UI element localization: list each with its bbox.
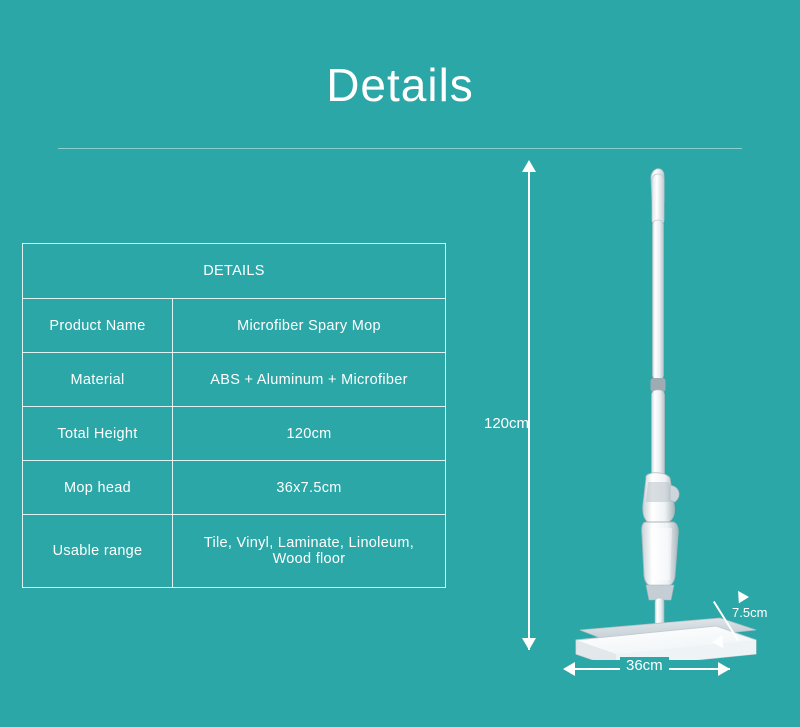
footer-strip (0, 709, 800, 727)
width-arrow-right-icon (718, 662, 730, 676)
table-row: Product Name Microfiber Spary Mop (23, 299, 446, 353)
width-arrow-left-icon (563, 662, 575, 676)
table-row: Usable range Tile, Vinyl, Laminate, Lino… (23, 515, 446, 588)
table-body: DETAILS Product Name Microfiber Spary Mo… (23, 244, 446, 588)
table-header-row: DETAILS (23, 244, 446, 299)
specifications-table: DETAILS Product Name Microfiber Spary Mo… (22, 243, 446, 588)
row-value-material: ABS + Aluminum + Microfiber (173, 353, 446, 407)
row-label-material: Material (23, 353, 173, 407)
row-label-mop-head: Mop head (23, 461, 173, 515)
thickness-dimension-label: 7.5cm (732, 605, 767, 620)
height-dimension-label: 120cm (484, 415, 529, 432)
row-value-usable-range: Tile, Vinyl, Laminate, Linoleum, Wood fl… (173, 515, 446, 588)
table-row: Total Height 120cm (23, 407, 446, 461)
height-dimension-line (528, 172, 530, 650)
details-page: Details DETAILS Product Name Microfiber … (0, 0, 800, 727)
table-header-cell: DETAILS (23, 244, 446, 299)
title-divider (58, 148, 742, 149)
usable-range-line-2: Wood floor (179, 551, 439, 567)
page-title: Details (0, 58, 800, 112)
row-value-total-height: 120cm (173, 407, 446, 461)
product-illustration-area: 120cm (460, 160, 790, 690)
height-arrow-up-icon (522, 160, 536, 172)
row-label-total-height: Total Height (23, 407, 173, 461)
table-row: Material ABS + Aluminum + Microfiber (23, 353, 446, 407)
row-value-product-name: Microfiber Spary Mop (173, 299, 446, 353)
row-label-usable-range: Usable range (23, 515, 173, 588)
table-row: Mop head 36x7.5cm (23, 461, 446, 515)
height-arrow-down-icon (522, 638, 536, 650)
usable-range-line-1: Tile, Vinyl, Laminate, Linoleum, (179, 535, 439, 551)
row-label-product-name: Product Name (23, 299, 173, 353)
row-value-mop-head: 36x7.5cm (173, 461, 446, 515)
width-dimension-label: 36cm (620, 657, 669, 674)
spray-mop-illustration (560, 160, 780, 660)
